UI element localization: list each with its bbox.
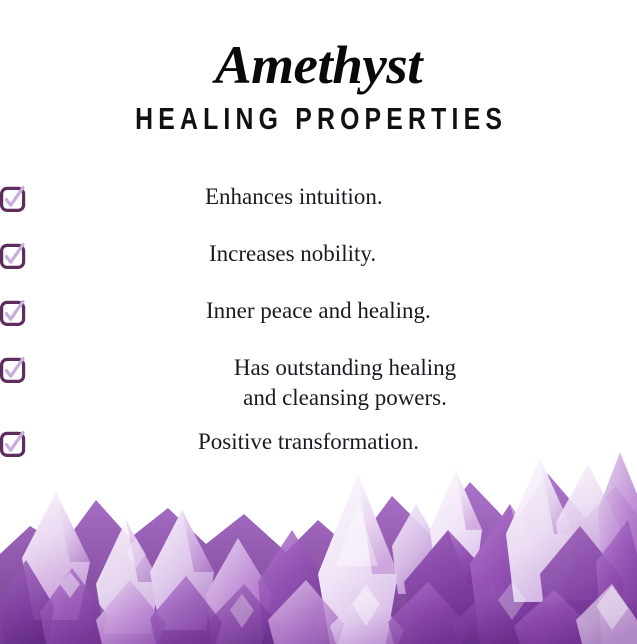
- amethyst-healing-poster: Amethyst HEALING PROPERTIES Enhances int…: [0, 0, 637, 644]
- page-subtitle: HEALING PROPERTIES: [64, 102, 574, 136]
- healing-properties-list: Enhances intuition. Increases nobility. …: [0, 182, 637, 465]
- checked-checkbox-icon: [0, 300, 26, 326]
- checked-checkbox-icon: [0, 186, 26, 212]
- checked-checkbox-icon: [0, 357, 26, 383]
- list-item-label: Enhances intuition.: [205, 182, 637, 212]
- poster-header: Amethyst HEALING PROPERTIES: [0, 34, 637, 136]
- list-item: Increases nobility.: [0, 239, 637, 277]
- list-item-label: Inner peace and healing.: [206, 296, 637, 326]
- amethyst-crystal-image: [0, 434, 637, 644]
- list-item: Enhances intuition.: [0, 182, 637, 220]
- list-item: Has outstanding healing and cleansing po…: [0, 353, 637, 413]
- list-item-label: Has outstanding healing and cleansing po…: [195, 353, 495, 413]
- list-item: Inner peace and healing.: [0, 296, 637, 334]
- page-title: Amethyst: [0, 34, 637, 96]
- list-item-label: Increases nobility.: [209, 239, 637, 269]
- checked-checkbox-icon: [0, 243, 26, 269]
